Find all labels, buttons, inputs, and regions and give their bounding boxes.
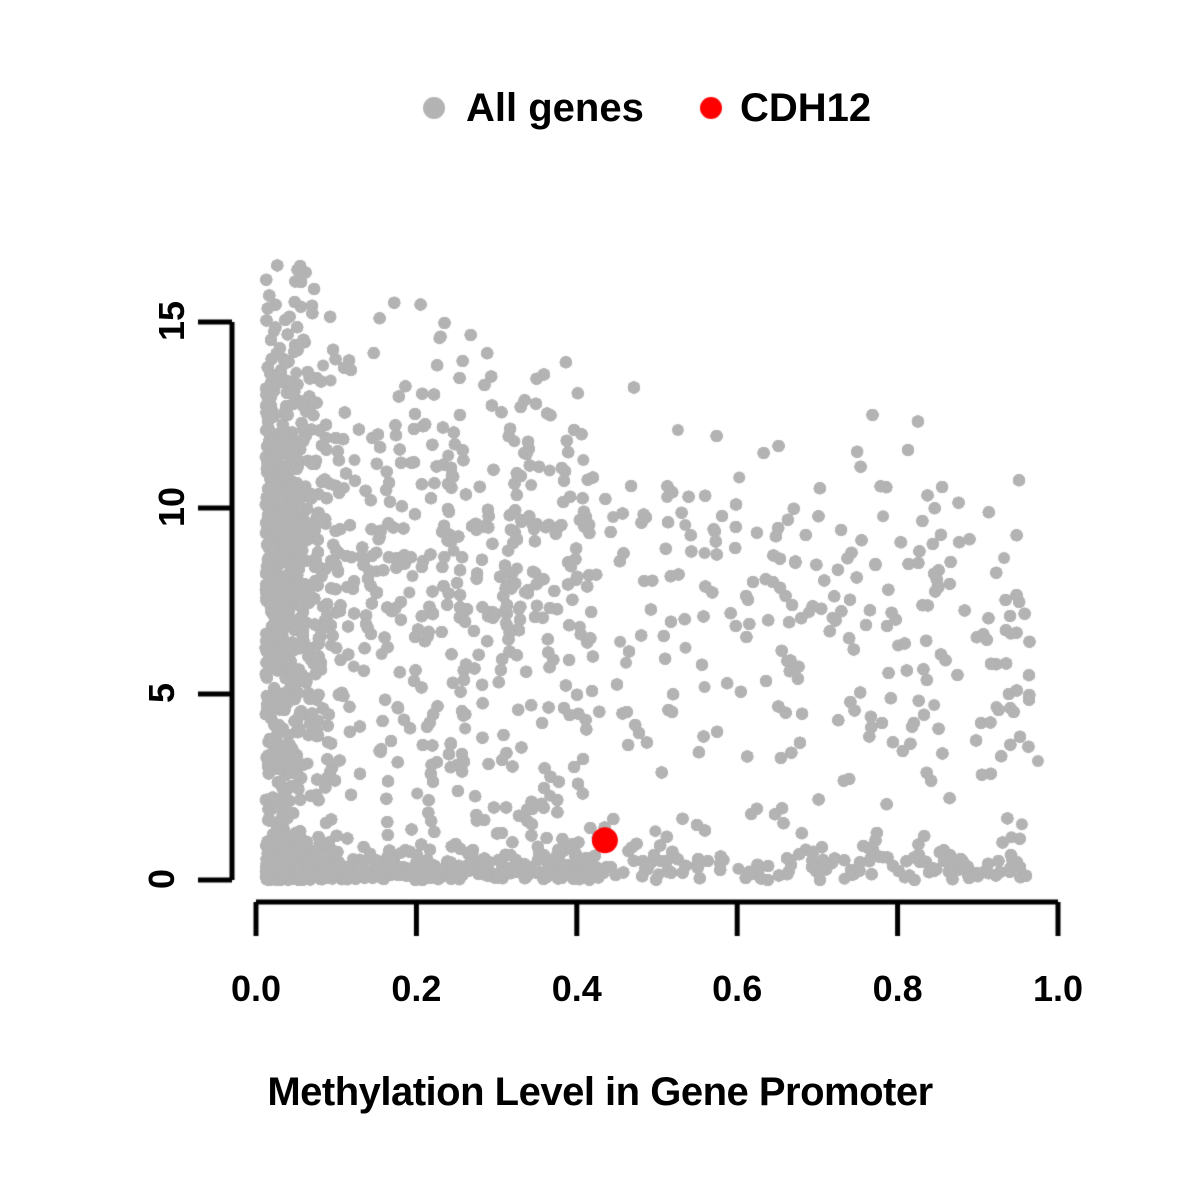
x-tick-label-0: 0.0 xyxy=(231,968,281,1010)
x-axis-title: Methylation Level in Gene Promoter xyxy=(0,1070,1200,1115)
x-tick-label-1: 0.2 xyxy=(391,968,441,1010)
x-tick-label-5: 1.0 xyxy=(1033,968,1083,1010)
scatter-plot-canvas xyxy=(0,0,1200,1200)
y-tick-label-3: 15 xyxy=(151,301,193,341)
y-tick-label-1: 5 xyxy=(141,683,183,703)
x-tick-label-2: 0.4 xyxy=(552,968,602,1010)
legend-label-all-genes: All genes xyxy=(466,86,644,131)
scatter-plot-figure: All genes CDH12 Methylation Level in Gen… xyxy=(0,0,1200,1200)
x-tick-label-3: 0.6 xyxy=(712,968,762,1010)
y-tick-label-0: 0 xyxy=(141,869,183,889)
x-tick-label-4: 0.8 xyxy=(873,968,923,1010)
legend-label-cdh12: CDH12 xyxy=(740,86,871,131)
y-tick-label-2: 10 xyxy=(151,487,193,527)
